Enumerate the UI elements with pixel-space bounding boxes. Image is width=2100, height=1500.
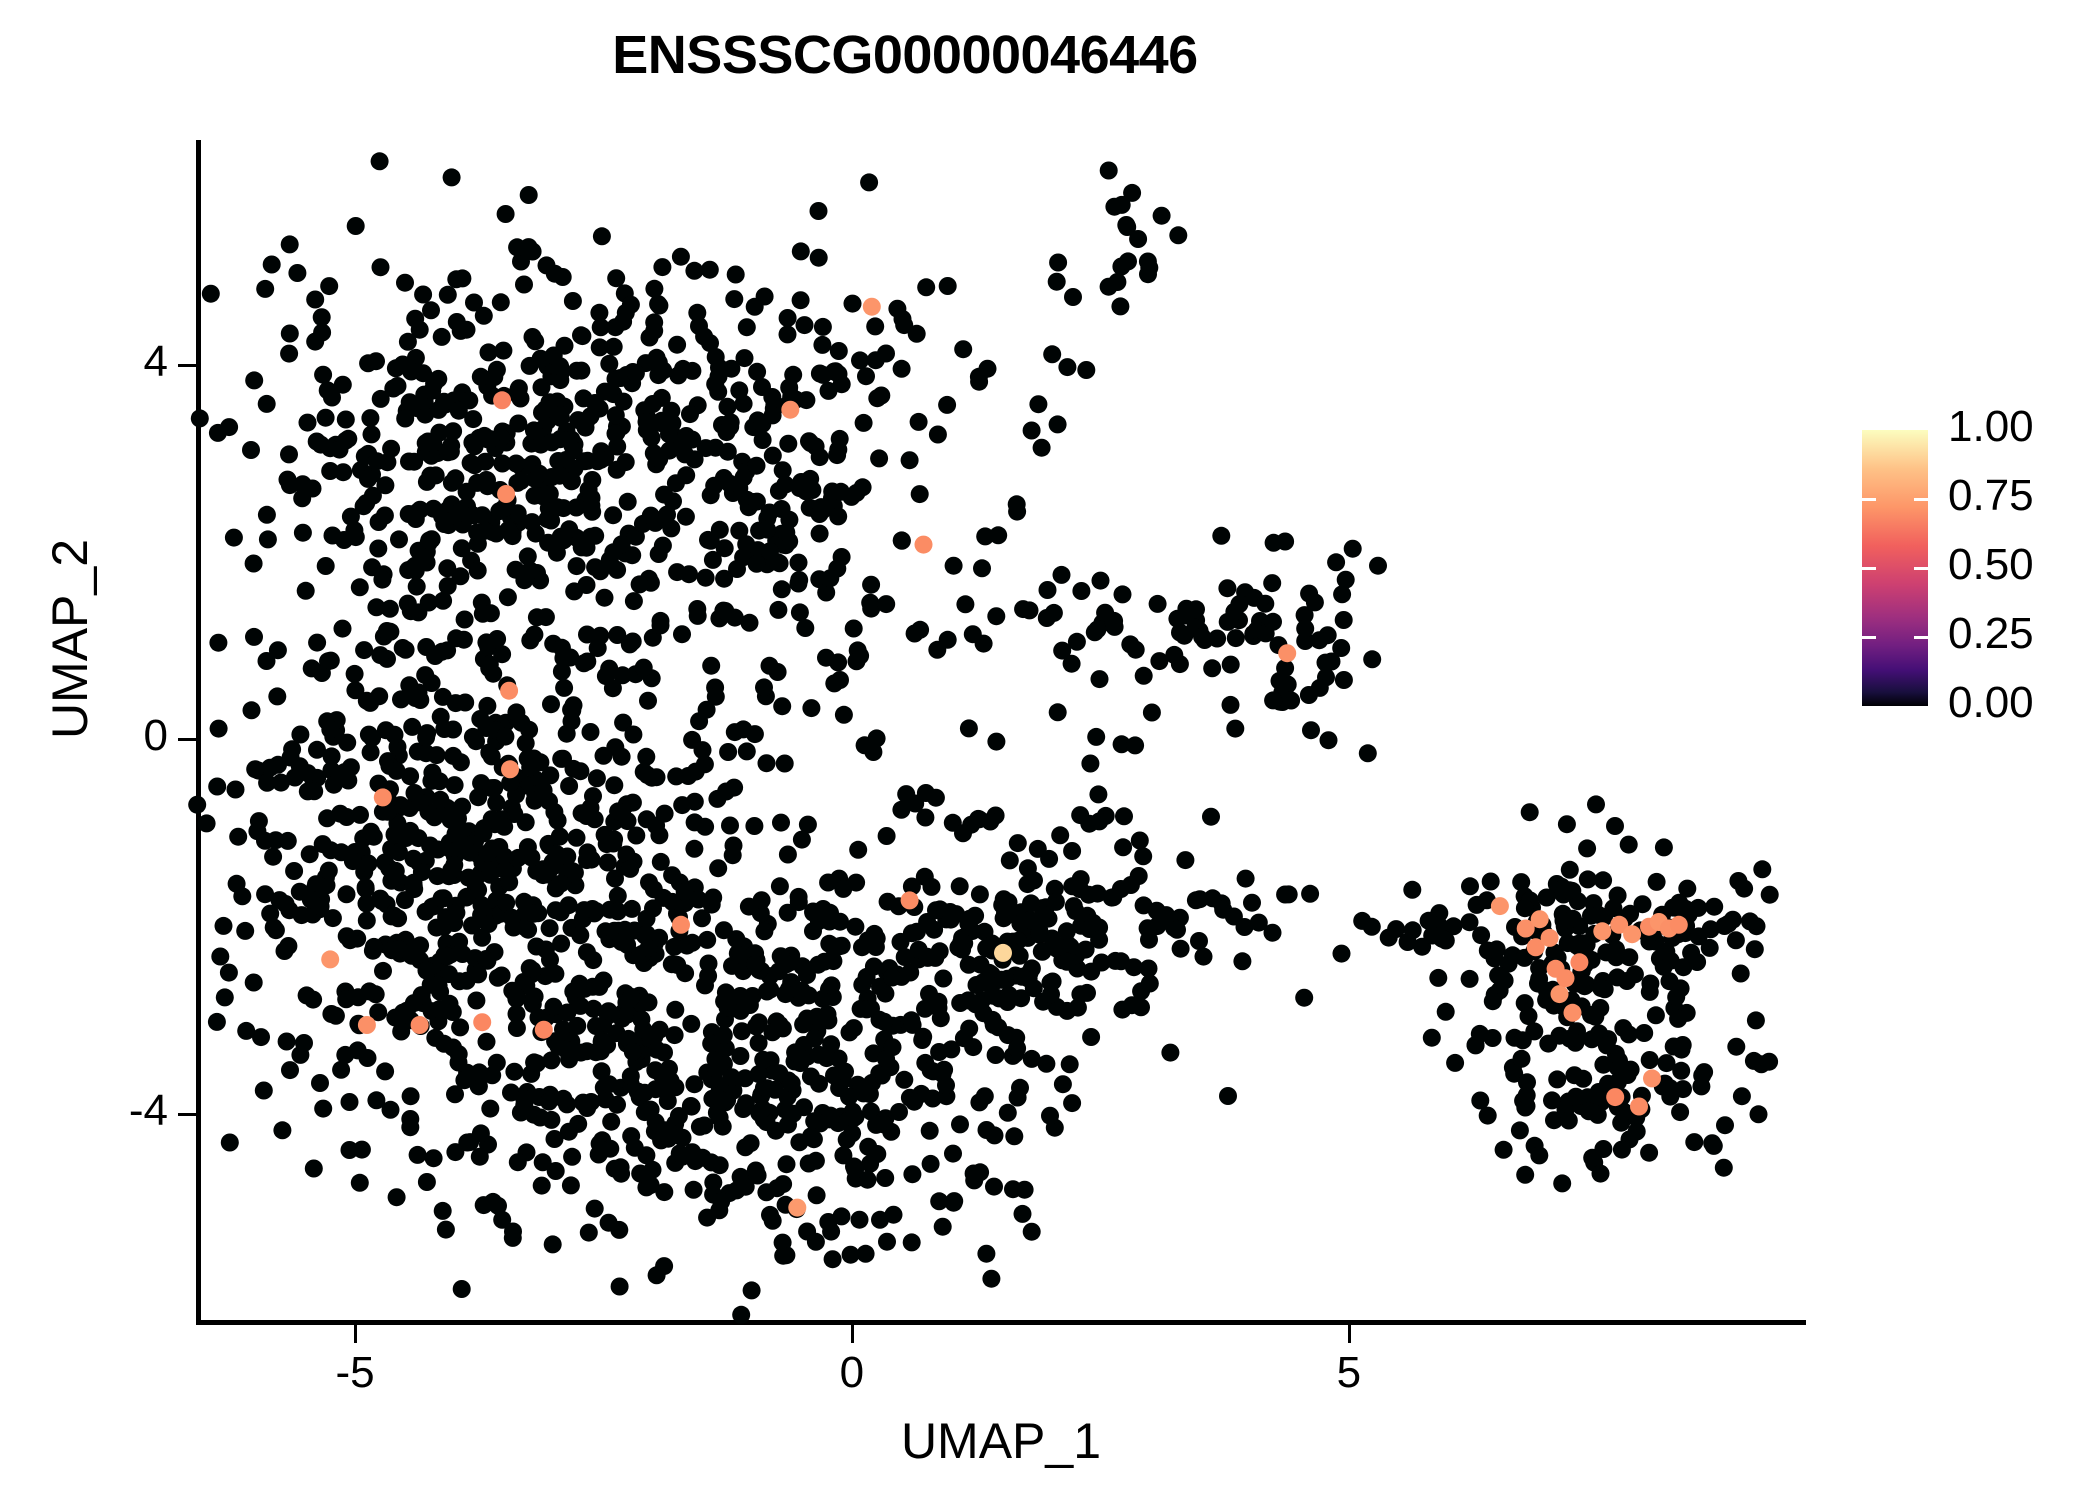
scatter-point [1190,932,1208,950]
scatter-point [299,764,317,782]
scatter-point [373,571,391,589]
scatter-point [337,411,355,429]
scatter-point [338,734,356,752]
scatter-point [525,626,543,644]
scatter-point [545,998,563,1016]
scatter-point [405,850,423,868]
scatter-point [705,477,723,495]
scatter-point [304,480,322,498]
scatter-point [256,832,274,850]
scatter-point [1657,943,1675,961]
scatter-point [834,1146,852,1164]
scatter-point [298,986,316,1004]
scatter-point [1063,842,1081,860]
scatter-point [454,945,472,963]
scatter-point [1518,1086,1536,1104]
scatter-point [652,414,670,432]
scatter-point [460,391,478,409]
scatter-point [1335,611,1353,629]
scatter-point [1333,945,1351,963]
scatter-point [1671,1103,1689,1121]
scatter-point [1560,881,1578,899]
scatter-point [425,500,443,518]
scatter-point [960,719,978,737]
scatter-point [1067,902,1085,920]
scatter-point [463,917,481,935]
scatter-point [800,432,818,450]
scatter-point [311,1074,329,1092]
scatter-point [431,791,449,809]
x-tick-mark [354,1325,357,1343]
scatter-point [698,931,716,949]
scatter-point [285,862,303,880]
scatter-point [748,457,766,475]
scatter-point [779,846,797,864]
scatter-point [871,1211,889,1229]
scatter-point [447,694,465,712]
scatter-point [666,1001,684,1019]
scatter-point [524,243,542,261]
scatter-point [666,1026,684,1044]
scatter-point [779,435,797,453]
scatter-point [1311,679,1329,697]
scatter-point [374,788,392,806]
scatter-point [1208,630,1226,648]
scatter-point [363,425,381,443]
scatter-point [1553,1174,1571,1192]
scatter-point [1236,918,1254,936]
scatter-point [291,1046,309,1064]
scatter-point [650,450,668,468]
scatter-point [747,1017,765,1035]
scatter-point [605,776,623,794]
scatter-point [790,888,808,906]
scatter-point [515,893,533,911]
scatter-point [903,1165,921,1183]
scatter-point [1641,1051,1659,1069]
scatter-point [512,714,530,732]
scatter-point [321,721,339,739]
scatter-point [708,1104,726,1122]
scatter-point [921,1122,939,1140]
scatter-point [1516,899,1534,917]
scatter-point [424,434,442,452]
scatter-point [776,1101,794,1119]
scatter-point [1306,593,1324,611]
scatter-point [1237,870,1255,888]
scatter-point [1092,572,1110,590]
scatter-point [386,726,404,744]
scatter-point [517,734,535,752]
scatter-point [622,1127,640,1145]
scatter-point [977,1245,995,1263]
scatter-point [1049,703,1067,721]
scatter-point [1080,815,1098,833]
scatter-point [607,425,625,443]
scatter-point [640,993,658,1011]
scatter-point [452,753,470,771]
scatter-point [659,1092,677,1110]
scatter-point [725,837,743,855]
scatter-point [685,1181,703,1199]
scatter-point [384,869,402,887]
scatter-point [580,1224,598,1242]
scatter-point [1014,600,1032,618]
scatter-point [1582,1006,1600,1024]
scatter-point [954,824,972,842]
scatter-point [1665,1038,1683,1056]
scatter-point [1404,921,1422,939]
scatter-point [338,885,356,903]
scatter-point [372,258,390,276]
scatter-point [972,956,990,974]
scatter-point [781,401,799,419]
scatter-point [1727,931,1745,949]
scatter-point [314,1100,332,1118]
scatter-point [694,741,712,759]
scatter-point [632,1010,650,1028]
scatter-point [927,789,945,807]
scatter-point [225,529,243,547]
scatter-point [701,261,719,279]
scatter-point [845,1019,863,1037]
scatter-point [453,539,471,557]
scatter-point [457,889,475,907]
scatter-point [444,422,462,440]
scatter-point [808,1186,826,1204]
scatter-point [503,909,521,927]
scatter-point [906,625,924,643]
scatter-point [721,817,739,835]
scatter-point [803,481,821,499]
scatter-point [572,326,590,344]
scatter-point [774,1247,792,1265]
scatter-point [1359,744,1377,762]
scatter-point [857,367,875,385]
scatter-point [591,338,609,356]
scatter-point [619,493,637,511]
scatter-point [388,1188,406,1206]
scatter-point [810,912,828,930]
scatter-point [321,950,339,968]
scatter-point [1058,922,1076,940]
scatter-point [1049,415,1067,433]
scatter-point [970,1093,988,1111]
scatter-point [280,345,298,363]
scatter-point [242,441,260,459]
scatter-point [1558,815,1576,833]
scatter-point [773,580,791,598]
scatter-point [308,433,326,451]
scatter-point [890,1103,908,1121]
scatter-point [973,559,991,577]
scatter-point [1051,826,1069,844]
scatter-point [1008,495,1026,513]
scatter-point [429,841,447,859]
scatter-point [910,941,928,959]
scatter-point [532,436,550,454]
scatter-point [1053,642,1071,660]
scatter-point [945,1194,963,1212]
scatter-point [1565,1066,1583,1084]
scatter-point [1195,948,1213,966]
scatter-point [901,451,919,469]
scatter-point [821,569,839,587]
scatter-point [1580,1102,1598,1120]
scatter-point [955,934,973,952]
colorbar-tick-mark [1914,498,1928,501]
scatter-point [451,567,469,585]
scatter-point [294,524,312,542]
scatter-point [1593,922,1611,940]
scatter-point [671,1144,689,1162]
scatter-point [1105,612,1123,630]
scatter-point [1296,620,1314,638]
scatter-point [878,1233,896,1251]
scatter-point [448,504,466,522]
scatter-point [305,782,323,800]
scatter-point [1172,940,1190,958]
scatter-point [1513,1050,1531,1068]
scatter-point [867,1116,885,1134]
scatter-point [504,1223,522,1241]
scatter-point [690,712,708,730]
scatter-point [501,760,519,778]
scatter-point [453,1280,471,1298]
scatter-point [941,903,959,921]
scatter-point [999,990,1017,1008]
scatter-point [930,1043,948,1061]
scatter-point [855,414,873,432]
scatter-point [1089,785,1107,803]
scatter-point [216,988,234,1006]
scatter-point [1108,273,1126,291]
scatter-point [597,667,615,685]
scatter-point [351,578,369,596]
scatter-point [358,912,376,930]
scatter-point [543,468,561,486]
scatter-point [865,925,883,943]
scatter-point [1576,934,1594,952]
scatter-point [698,1209,716,1227]
scatter-point [526,988,544,1006]
scatter-point [1606,817,1624,835]
scatter-point [807,1233,825,1251]
scatter-point [413,986,431,1004]
scatter-point [521,959,539,977]
scatter-point [475,1196,493,1214]
scatter-point [574,1094,592,1112]
scatter-point [737,1094,755,1112]
scatter-point [562,1176,580,1194]
scatter-point [519,921,537,939]
scatter-point [504,527,522,545]
scatter-point [982,977,1000,995]
scatter-point [474,824,492,842]
scatter-point [734,720,752,738]
scatter-point [835,706,853,724]
scatter-point [656,805,674,823]
scatter-point [627,827,645,845]
colorbar-tick-label: 0.00 [1948,678,2034,728]
scatter-point [650,545,668,563]
scatter-point [401,944,419,962]
scatter-point [600,1214,618,1232]
scatter-point [639,766,657,784]
scatter-point [769,663,787,681]
scatter-point [893,360,911,378]
scatter-point [397,829,415,847]
scatter-point [582,497,600,515]
scatter-point [1171,655,1189,673]
scatter-point [446,469,464,487]
scatter-point [951,877,969,895]
scatter-point [1705,898,1723,916]
scatter-point [846,918,864,936]
scatter-point [893,532,911,550]
scatter-point [810,1075,828,1093]
scatter-point [282,749,300,767]
scatter-point [777,524,795,542]
scatter-point [335,531,353,549]
scatter-point [221,1134,239,1152]
scatter-point [860,173,878,191]
scatter-point [593,1141,611,1159]
scatter-point [928,641,946,659]
scatter-point [779,309,797,327]
scatter-point [493,391,511,409]
scatter-point [586,1200,604,1218]
scatter-point [679,767,697,785]
scatter-point [668,336,686,354]
scatter-point [552,875,570,893]
scatter-point [769,601,787,619]
scatter-point [531,1109,549,1127]
scatter-point [268,687,286,705]
scatter-point [624,1043,642,1061]
scatter-point [363,729,381,747]
scatter-point [439,286,457,304]
scatter-point [544,1235,562,1253]
scatter-point [911,485,929,503]
scatter-point [1667,988,1685,1006]
scatter-point [1587,795,1605,813]
scatter-point [993,896,1011,914]
scatter-point [308,634,326,652]
scatter-point [793,831,811,849]
scatter-point [1264,613,1282,631]
scatter-point [246,760,264,778]
scatter-point [623,900,641,918]
scatter-point [578,943,596,961]
scatter-point [1727,1038,1745,1056]
scatter-point [777,985,795,1003]
scatter-point [642,507,660,525]
scatter-point [320,277,338,295]
scatter-point [245,974,263,992]
scatter-point [579,843,597,861]
scatter-point [951,1115,969,1133]
scatter-point [934,1218,952,1236]
scatter-point [1635,1024,1653,1042]
scatter-point [777,955,795,973]
scatter-point [784,366,802,384]
scatter-point [490,502,508,520]
scatter-point [840,1088,858,1106]
scatter-point [493,455,511,473]
scatter-point [382,440,400,458]
scatter-point [399,595,417,613]
scatter-point [715,992,733,1010]
scatter-point [1025,871,1043,889]
scatter-point [357,494,375,512]
scatter-point [392,690,410,708]
scatter-point [925,921,943,939]
scatter-point [681,405,699,423]
scatter-point [1594,1140,1612,1158]
scatter-point [1598,1036,1616,1054]
scatter-point [493,967,511,985]
scatter-point [672,248,690,266]
scatter-point [758,754,776,772]
scatter-point [1202,808,1220,826]
scatter-point [823,976,841,994]
scatter-point [934,970,952,988]
scatter-point [1597,943,1615,961]
scatter-point [245,628,263,646]
colorbar-tick-mark [1862,636,1876,639]
scatter-point [401,1118,419,1136]
scatter-point [263,256,281,274]
scatter-point [256,885,274,903]
scatter-point [1630,1098,1648,1116]
scatter-point [402,1087,420,1105]
scatter-point [1482,873,1500,891]
scatter-point [617,453,635,471]
scatter-point [592,318,610,336]
scatter-point [773,697,791,715]
scatter-point [565,582,583,600]
scatter-point [1434,930,1452,948]
scatter-point [341,1093,359,1111]
scatter-point [358,1016,376,1034]
scatter-point [1641,975,1659,993]
scatter-point [637,748,655,766]
scatter-point [790,554,808,572]
scatter-point [396,410,414,428]
scatter-point [779,325,797,343]
scatter-point [210,720,228,738]
scatter-point [836,1063,854,1081]
scatter-point [351,1174,369,1192]
x-tick-mark [1348,1325,1351,1343]
scatter-point [690,317,708,335]
scatter-point [1557,969,1575,987]
scatter-point [589,639,607,657]
scatter-point [845,1109,863,1127]
scatter-point [243,701,261,719]
scatter-point [1543,1091,1561,1109]
scatter-point [1467,1036,1485,1054]
scatter-point [568,557,586,575]
scatter-point [1131,832,1149,850]
scatter-point [496,728,514,746]
scatter-point [1594,871,1612,889]
scatter-point [1048,273,1066,291]
scatter-point [434,1202,452,1220]
scatter-point [1746,940,1764,958]
scatter-point [719,743,737,761]
